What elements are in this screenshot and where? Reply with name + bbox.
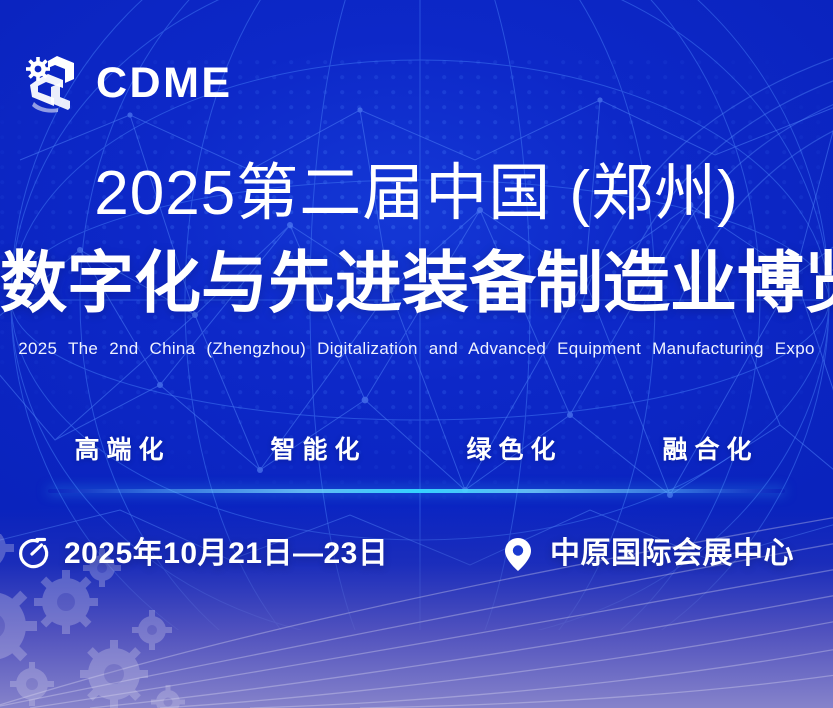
event-date: 2025年10月21日—23日 (14, 534, 388, 574)
event-date-text: 2025年10月21日—23日 (64, 539, 388, 569)
event-venue-text: 中原国际会展中心 (550, 539, 794, 569)
event-info-row: 2025年10月21日—23日 中原国际会展中心 (0, 534, 833, 596)
keyword-item: 高端化 (25, 438, 221, 463)
cdme-s-gear-mark-icon (24, 52, 82, 114)
event-venue: 中原国际会展中心 (500, 534, 794, 574)
clock-icon (14, 534, 50, 574)
keyword-item: 绿色化 (417, 438, 613, 463)
brand-logo[interactable]: CDME (24, 52, 233, 114)
keyword-list: 高端化 智能化 绿色化 融合化 (0, 438, 833, 463)
keyword-item: 融合化 (613, 438, 809, 463)
section-divider (48, 489, 785, 493)
location-pin-icon (500, 534, 536, 574)
expo-banner: CDME 2025第二届中国 (郑州) 数字化与先进装备制造业博览会 2025 … (0, 0, 833, 708)
page-title-line2: 数字化与先进装备制造业博览会 (0, 250, 833, 317)
page-title-line1: 2025第二届中国 (郑州) (0, 163, 833, 225)
keyword-item: 智能化 (221, 438, 417, 463)
brand-name: CDME (96, 62, 233, 105)
page-title-english: 2025 The 2nd China (Zhengzhou) Digitaliz… (0, 340, 833, 357)
